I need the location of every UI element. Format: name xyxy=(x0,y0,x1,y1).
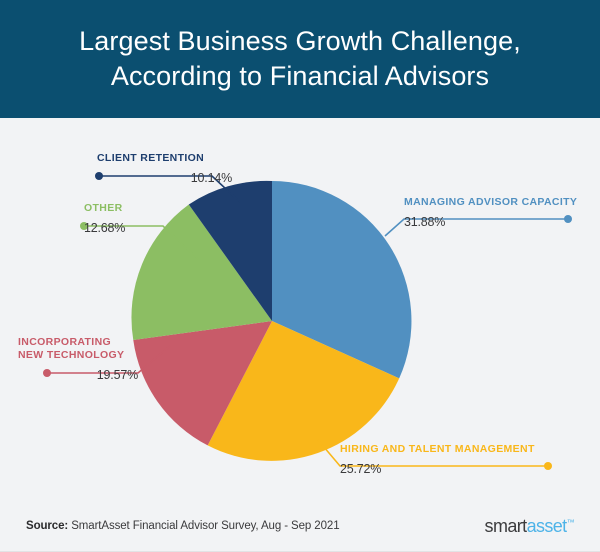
logo-text-smart: smart xyxy=(485,516,527,536)
page-title: Largest Business Growth Challenge, Accor… xyxy=(61,24,539,94)
callout-title-client-retention: CLIENT RETENTION xyxy=(97,152,232,165)
callout-value-hiring-and-talent-management: 25.72% xyxy=(340,462,535,477)
callout-other: OTHER 12.68% xyxy=(84,202,125,236)
callout-managing-advisor-capacity: MANAGING ADVISOR CAPACITY 31.88% xyxy=(404,196,577,230)
logo-text-asset: asset xyxy=(527,516,567,536)
callout-hiring-and-talent-management: HIRING AND TALENT MANAGEMENT 25.72% xyxy=(340,443,535,477)
callout-value-client-retention: 10.14% xyxy=(97,171,232,186)
infographic-root: Largest Business Growth Challenge, Accor… xyxy=(0,0,600,552)
callout-incorporating-new-technology: INCORPORATING NEW TECHNOLOGY 19.57% xyxy=(18,336,138,383)
footer: Source: SmartAsset Financial Advisor Sur… xyxy=(0,500,600,552)
chart-area: CLIENT RETENTION 10.14% OTHER 12.68% INC… xyxy=(0,118,600,500)
callout-title-other: OTHER xyxy=(84,202,125,215)
callout-title-managing-advisor-capacity: MANAGING ADVISOR CAPACITY xyxy=(404,196,577,209)
callout-value-incorporating-new-technology: 19.57% xyxy=(18,368,138,383)
smartasset-logo: smartasset™ xyxy=(485,516,574,537)
source-label: Source: xyxy=(26,520,68,532)
source-note: Source: SmartAsset Financial Advisor Sur… xyxy=(26,520,340,532)
callout-title-hiring-and-talent-management: HIRING AND TALENT MANAGEMENT xyxy=(340,443,535,456)
logo-trademark-icon: ™ xyxy=(567,518,574,527)
callout-value-other: 12.68% xyxy=(84,221,125,236)
callout-title-incorporating-new-technology-line2: NEW TECHNOLOGY xyxy=(18,349,138,362)
callout-client-retention: CLIENT RETENTION 10.14% xyxy=(97,152,232,186)
source-text: SmartAsset Financial Advisor Survey, Aug… xyxy=(68,520,339,532)
header-banner: Largest Business Growth Challenge, Accor… xyxy=(0,0,600,118)
callout-value-managing-advisor-capacity: 31.88% xyxy=(404,215,577,230)
callout-title-incorporating-new-technology-line1: INCORPORATING xyxy=(18,336,138,349)
